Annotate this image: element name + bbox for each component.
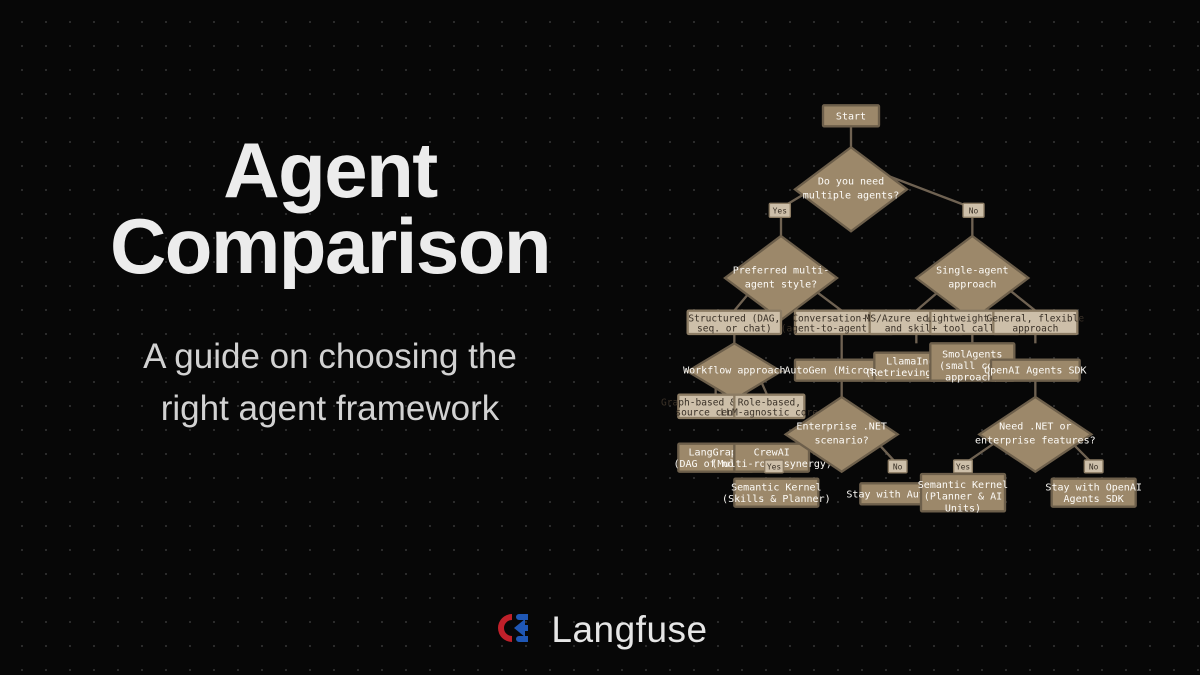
svg-text:Single-agent: Single-agent — [936, 265, 1008, 276]
node-single-agent-approach[interactable]: Single-agent approach — [916, 236, 1028, 320]
decision-flowchart: Start Do you need multiple agents? Yes N… — [672, 96, 1142, 516]
edge-label-no: No — [963, 203, 984, 217]
node-start[interactable]: Start — [823, 105, 879, 126]
svg-text:LLM-agnostic core: LLM-agnostic core — [720, 408, 818, 419]
svg-text:seq. or chat): seq. or chat) — [697, 324, 772, 335]
edge-label-yes-2: Yes — [765, 460, 784, 473]
svg-text:Yes: Yes — [956, 462, 970, 471]
svg-text:Enterprise .NET: Enterprise .NET — [796, 422, 886, 433]
svg-text:Yes: Yes — [767, 462, 781, 471]
svg-text:No: No — [1089, 462, 1099, 471]
page-title-line-1: Agent — [223, 126, 436, 214]
node-label-role-based[interactable]: Role-based, LLM-agnostic core — [720, 395, 818, 419]
page-subtitle-line-2: right agent framework — [161, 389, 499, 428]
svg-text:Stay with OpenAI: Stay with OpenAI — [1045, 482, 1141, 493]
node-openai-agents-sdk[interactable]: OpenAI Agents SDK — [984, 360, 1087, 381]
svg-text:Units): Units) — [945, 503, 981, 514]
svg-text:CrewAI: CrewAI — [754, 447, 790, 458]
node-question-need-net[interactable]: Need .NET or enterprise features? — [975, 397, 1096, 472]
edge-label-yes-3: Yes — [954, 460, 973, 473]
svg-text:enterprise features?: enterprise features? — [975, 436, 1096, 447]
svg-text:OpenAI Agents SDK: OpenAI Agents SDK — [984, 366, 1087, 377]
page-title-line-2: Comparison — [110, 202, 550, 290]
svg-text:Agents SDK: Agents SDK — [1064, 494, 1124, 505]
svg-text:Yes: Yes — [773, 206, 787, 215]
edge-label-no-3: No — [1084, 460, 1103, 473]
node-semantic-kernel-planner[interactable]: Semantic Kernel (Planner & AI Units) — [918, 474, 1008, 514]
svg-text:Workflow approach: Workflow approach — [683, 366, 786, 377]
svg-text:(Skills & Planner): (Skills & Planner) — [722, 494, 831, 505]
svg-text:No: No — [893, 462, 903, 471]
brand-footer: Langfuse — [0, 609, 1200, 651]
svg-text:(Planner & AI: (Planner & AI — [924, 492, 1002, 503]
page-subtitle: A guide on choosing the right agent fram… — [40, 331, 620, 435]
node-label-structured[interactable]: Structured (DAG, seq. or chat) — [688, 311, 781, 335]
node-question-multiagent-style[interactable]: Preferred multi- agent style? — [725, 236, 837, 320]
node-workflow-approach[interactable]: Workflow approach — [683, 343, 786, 399]
node-stay-with-openai[interactable]: Stay with OpenAI Agents SDK — [1045, 479, 1141, 507]
svg-text:Start: Start — [836, 111, 866, 122]
hero-panel: Agent Comparison A guide on choosing the… — [0, 0, 660, 600]
svg-text:scenario?: scenario? — [815, 436, 869, 447]
edge-label-no-2: No — [888, 460, 907, 473]
edge-label-yes: Yes — [769, 203, 790, 217]
svg-text:Need .NET or: Need .NET or — [999, 422, 1071, 433]
svg-text:multiple agents?: multiple agents? — [803, 191, 899, 202]
svg-text:approach: approach — [1012, 324, 1058, 335]
svg-text:No: No — [969, 206, 979, 215]
brand-name: Langfuse — [551, 609, 707, 651]
page-subtitle-line-1: A guide on choosing the — [143, 337, 517, 376]
node-semantic-kernel-skills[interactable]: Semantic Kernel (Skills & Planner) — [722, 479, 831, 507]
svg-text:Semantic Kernel: Semantic Kernel — [731, 482, 821, 493]
node-question-multiple-agents[interactable]: Do you need multiple agents? — [795, 147, 907, 231]
svg-text:approach: approach — [948, 279, 996, 290]
svg-text:Preferred multi-: Preferred multi- — [733, 265, 829, 276]
langfuse-logo-icon — [492, 611, 536, 650]
svg-text:Do you need: Do you need — [818, 177, 884, 188]
svg-text:agent style?: agent style? — [745, 279, 817, 290]
page-title: Agent Comparison — [30, 132, 630, 285]
svg-text:Semantic Kernel: Semantic Kernel — [918, 480, 1008, 491]
node-label-general[interactable]: General, flexible approach — [986, 311, 1084, 335]
